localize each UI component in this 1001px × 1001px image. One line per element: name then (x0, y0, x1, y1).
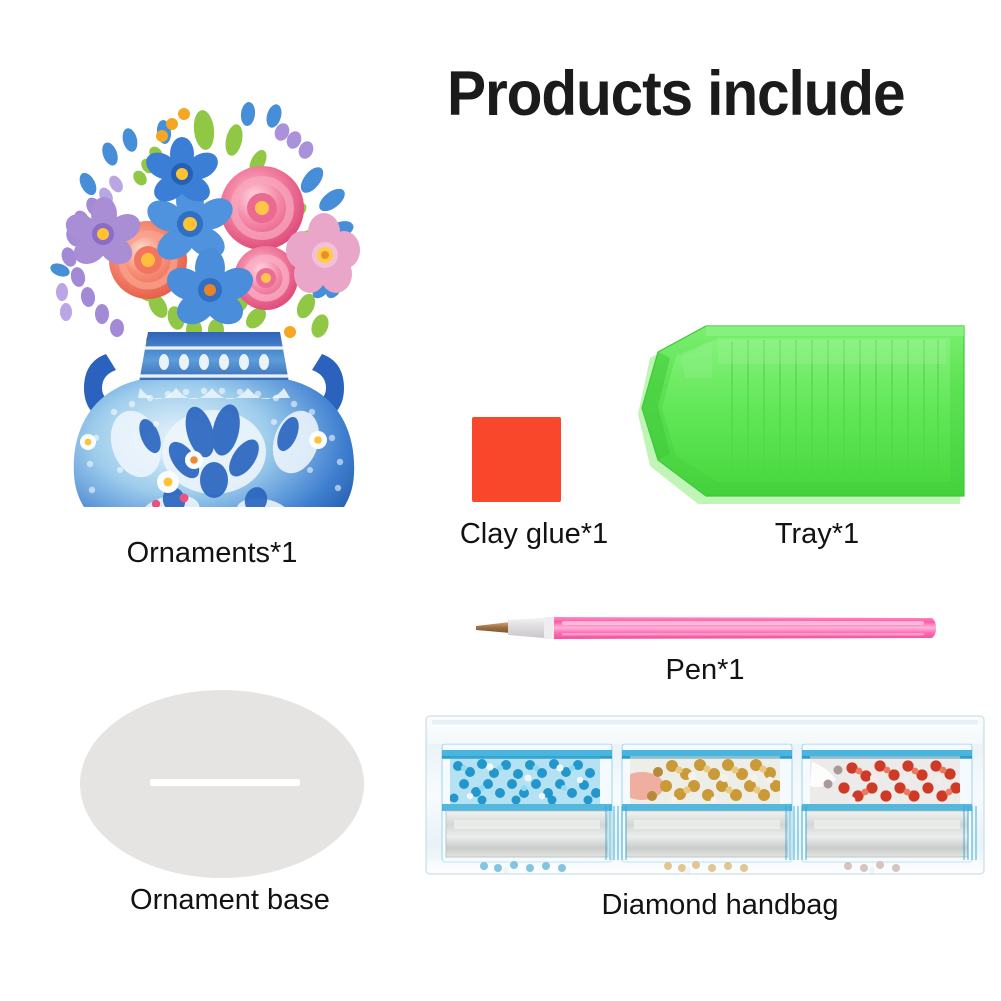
page-title: Products include (447, 63, 954, 126)
zip-bag-gold (620, 744, 792, 862)
product-contents-infographic: Products include (0, 0, 1001, 1001)
clay-glue-label: Clay glue*1 (390, 519, 678, 551)
zip-bag-red (802, 744, 972, 862)
pen-image (470, 608, 950, 650)
ornament-base-image (78, 686, 366, 882)
pen-label: Pen*1 (560, 655, 850, 687)
ornaments-label: Ornaments*1 (0, 538, 424, 570)
porcelain-vase (74, 332, 354, 507)
ornament-base-label: Ornament base (20, 885, 440, 917)
diamond-handbag-image (424, 710, 986, 880)
diamond-handbag-label: Diamond handbag (455, 890, 985, 922)
zip-bag-blue (442, 744, 612, 862)
clay-glue-image (472, 417, 561, 502)
tray-image (636, 318, 970, 514)
ornaments-image (44, 92, 384, 507)
tray-label: Tray*1 (672, 519, 962, 551)
